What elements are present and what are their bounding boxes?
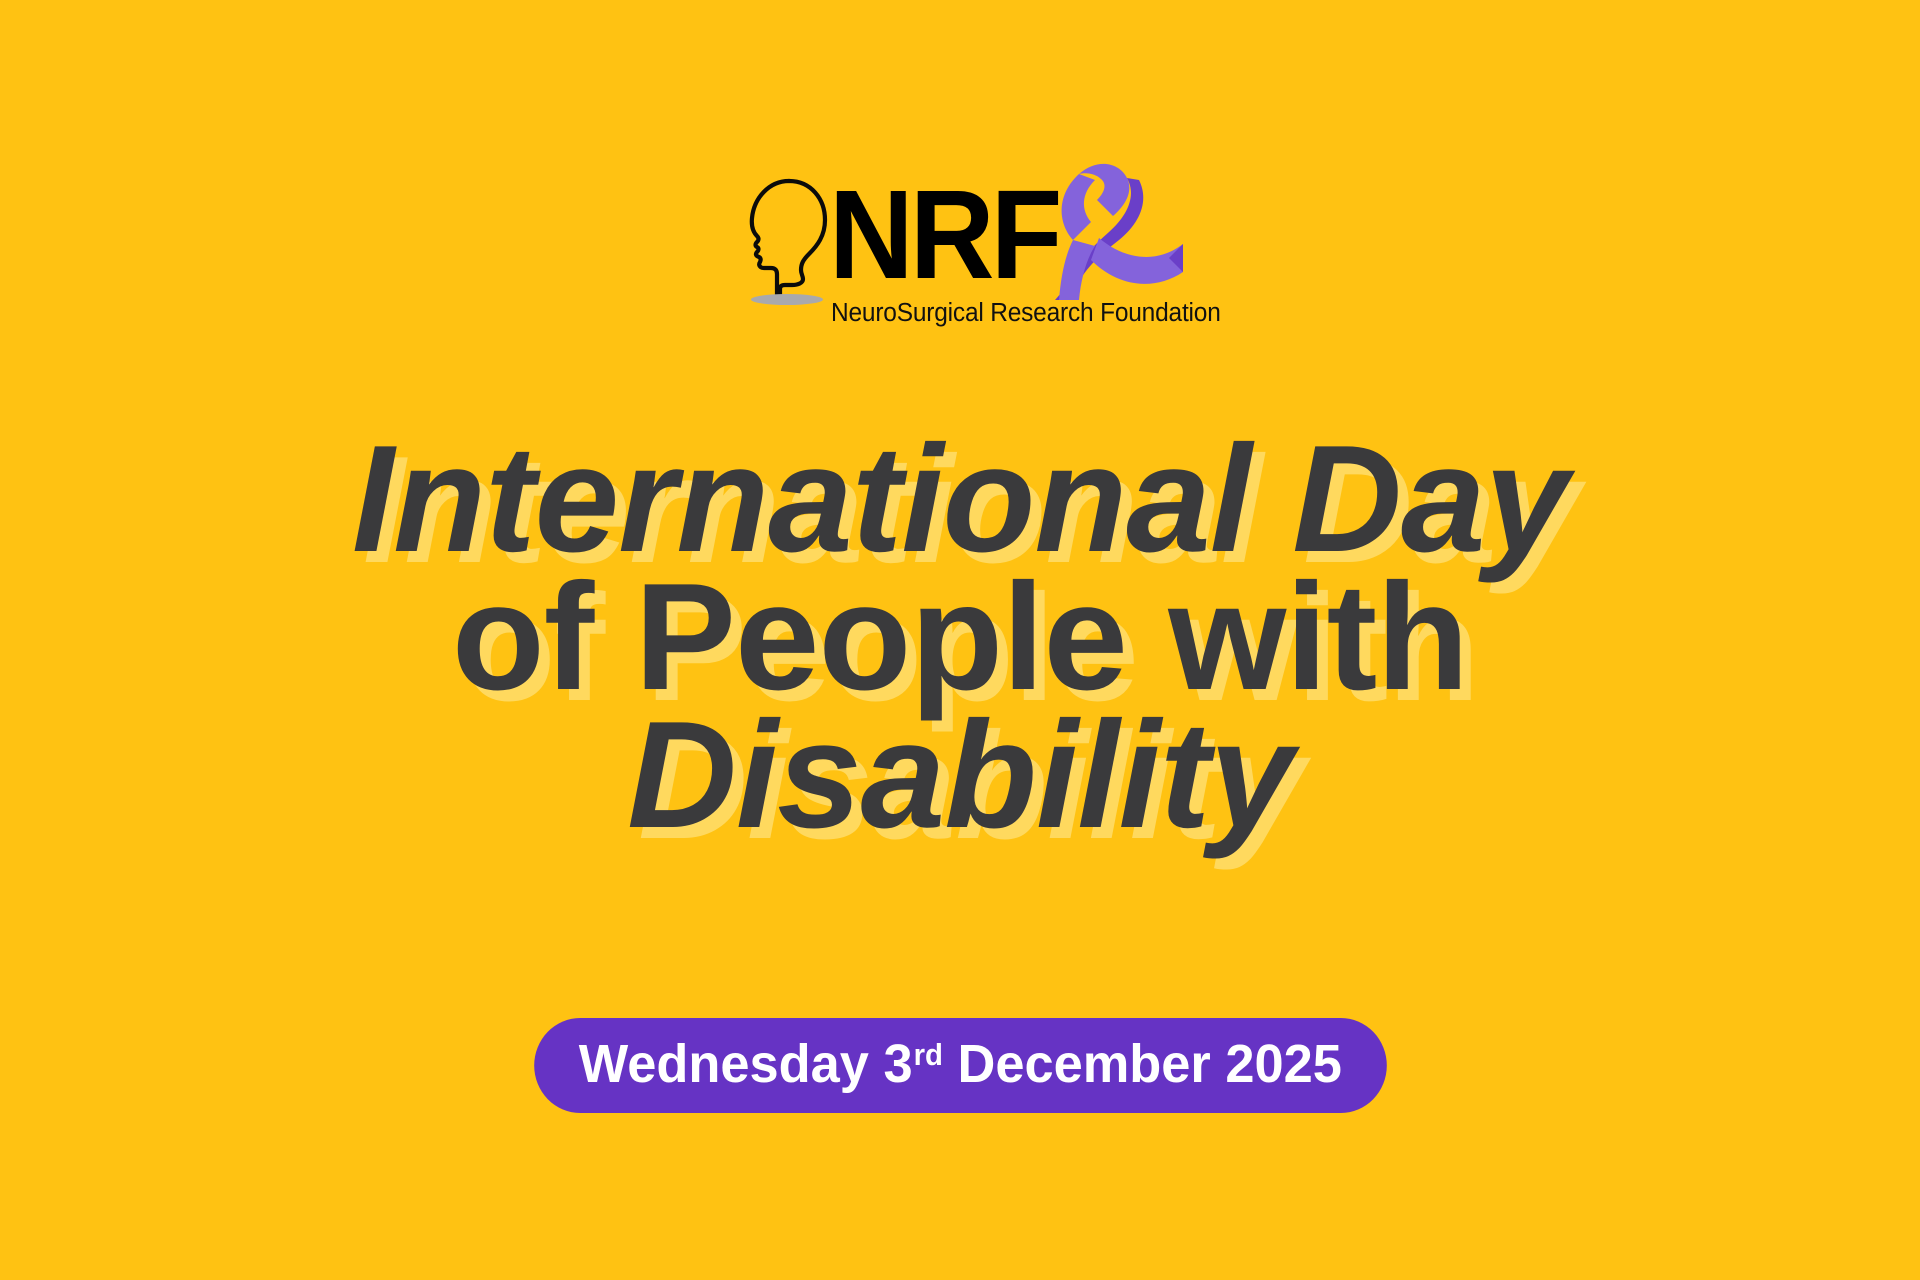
- headline-line-3: Disability: [0, 706, 1920, 844]
- date-badge-wrapper: Wednesday 3rd December 2025: [0, 1018, 1920, 1113]
- date-badge-ordinal: rd: [913, 1039, 942, 1072]
- head-profile-icon: [745, 176, 829, 302]
- head-shadow-ellipse: [751, 294, 823, 305]
- headline-line-1: International Day: [0, 430, 1920, 568]
- page-title: International Day of People with Disabil…: [0, 430, 1920, 844]
- date-badge-suffix: December 2025: [943, 1034, 1342, 1094]
- awareness-ribbon-icon: [1039, 160, 1189, 305]
- logo-inner: NRF NeuroSurgical Research Foundation: [745, 172, 1175, 337]
- date-badge: Wednesday 3rd December 2025: [534, 1018, 1386, 1113]
- logo-tagline: NeuroSurgical Research Foundation: [831, 298, 1221, 328]
- headline-line-2: of People with: [0, 568, 1920, 706]
- logo-wordmark: NRF: [829, 172, 1059, 298]
- nrf-logo: NRF NeuroSurgical Research Foundation: [0, 172, 1920, 337]
- date-badge-prefix: Wednesday 3: [578, 1034, 912, 1094]
- poster-canvas: NRF NeuroSurgical Research Foundation In…: [0, 0, 1920, 1280]
